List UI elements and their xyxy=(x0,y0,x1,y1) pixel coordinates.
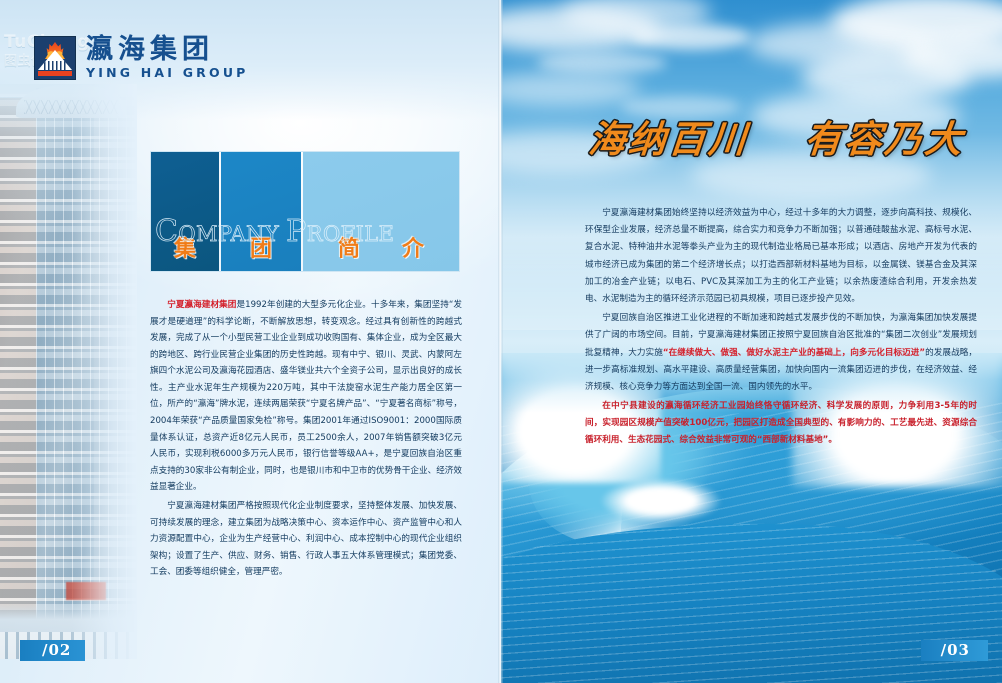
banner-cell-3: 简 介 xyxy=(303,152,459,271)
banner-cn-char-2: 团 xyxy=(221,231,301,263)
right-paragraph-3: 在中宁县建设的瀛海循环经济工业园始终恪守循环经济、科学发展的原则，力争利用3-5… xyxy=(585,398,977,450)
page-number-left: /02 xyxy=(20,640,85,661)
company-name-highlight: 宁夏瀛海建材集团 xyxy=(167,300,236,310)
right-page: 海纳百川 有容乃大 宁夏瀛海建材集团始终坚持以经济效益为中心，经过十多年的大力调… xyxy=(501,0,1002,683)
strategy-highlight: “在继续做大、做强、做好水泥主产业的基础上，向多元化目标迈进” xyxy=(663,348,925,358)
mountain-icon xyxy=(38,50,72,70)
building-photo-fade xyxy=(0,84,137,659)
office-tower-photo xyxy=(0,84,137,659)
left-paragraph-2: 宁夏瀛海建材集团严格按照现代化企业制度要求，坚持整体发展、加快发展、可持续发展的… xyxy=(150,498,462,581)
brand-name-cn: 瀛海集团 xyxy=(86,36,249,63)
right-paragraph-1: 宁夏瀛海建材集团始终坚持以经济效益为中心，经过十多年的大力调整，逐步向高科技、规… xyxy=(585,205,977,308)
banner-cn-char-1: 集 xyxy=(151,231,219,263)
headline-part-1: 海纳百川 xyxy=(587,109,752,163)
right-paragraph-2: 宁夏回族自治区推进工业化进程的不断加速和跨越式发展步伐的不断加快，为瀛海集团加快… xyxy=(585,310,977,396)
mountain-flame-logo-icon xyxy=(34,36,76,80)
headline-part-2: 有容乃大 xyxy=(803,109,968,163)
logo-base-bar xyxy=(38,71,72,76)
book-spine xyxy=(498,0,503,683)
banner-cn-char-4: 介 xyxy=(402,231,424,263)
banner-cell-2: 团 xyxy=(221,152,301,271)
company-profile-banner: 集 团 简 介 COMPANY PROFILE xyxy=(150,151,460,272)
page-number-right: /03 xyxy=(921,640,988,661)
wave-lip-foam xyxy=(601,479,721,523)
banner-cn-char-3: 简 xyxy=(338,231,360,263)
left-paragraph-1: 宁夏瀛海建材集团是1992年创建的大型多元化企业。十多年来，集团坚持“发展才是硬… xyxy=(150,297,462,496)
left-paragraph-1-rest: 是1992年创建的大型多元化企业。十多年来，集团坚持“发展才是硬道理”的科学论断… xyxy=(150,300,462,492)
brand-lockup: 瀛海集团 YING HAI GROUP xyxy=(34,36,249,80)
brochure-spread: TuChong 图虫创意 瀛海集团 YING HAI G xyxy=(0,0,1002,683)
banner-cell-1: 集 xyxy=(151,152,219,271)
right-body-copy: 宁夏瀛海建材集团始终坚持以经济效益为中心，经过十多年的大力调整，逐步向高科技、规… xyxy=(585,205,977,452)
left-body-copy: 宁夏瀛海建材集团是1992年创建的大型多元化企业。十多年来，集团坚持“发展才是硬… xyxy=(150,297,462,583)
brand-text: 瀛海集团 YING HAI GROUP xyxy=(86,36,249,80)
brand-name-en: YING HAI GROUP xyxy=(86,67,249,80)
calligraphy-headline: 海纳百川 有容乃大 xyxy=(589,108,929,164)
banner-cn-pair: 简 介 xyxy=(303,231,459,263)
left-page: TuChong 图虫创意 瀛海集团 YING HAI G xyxy=(0,0,501,683)
